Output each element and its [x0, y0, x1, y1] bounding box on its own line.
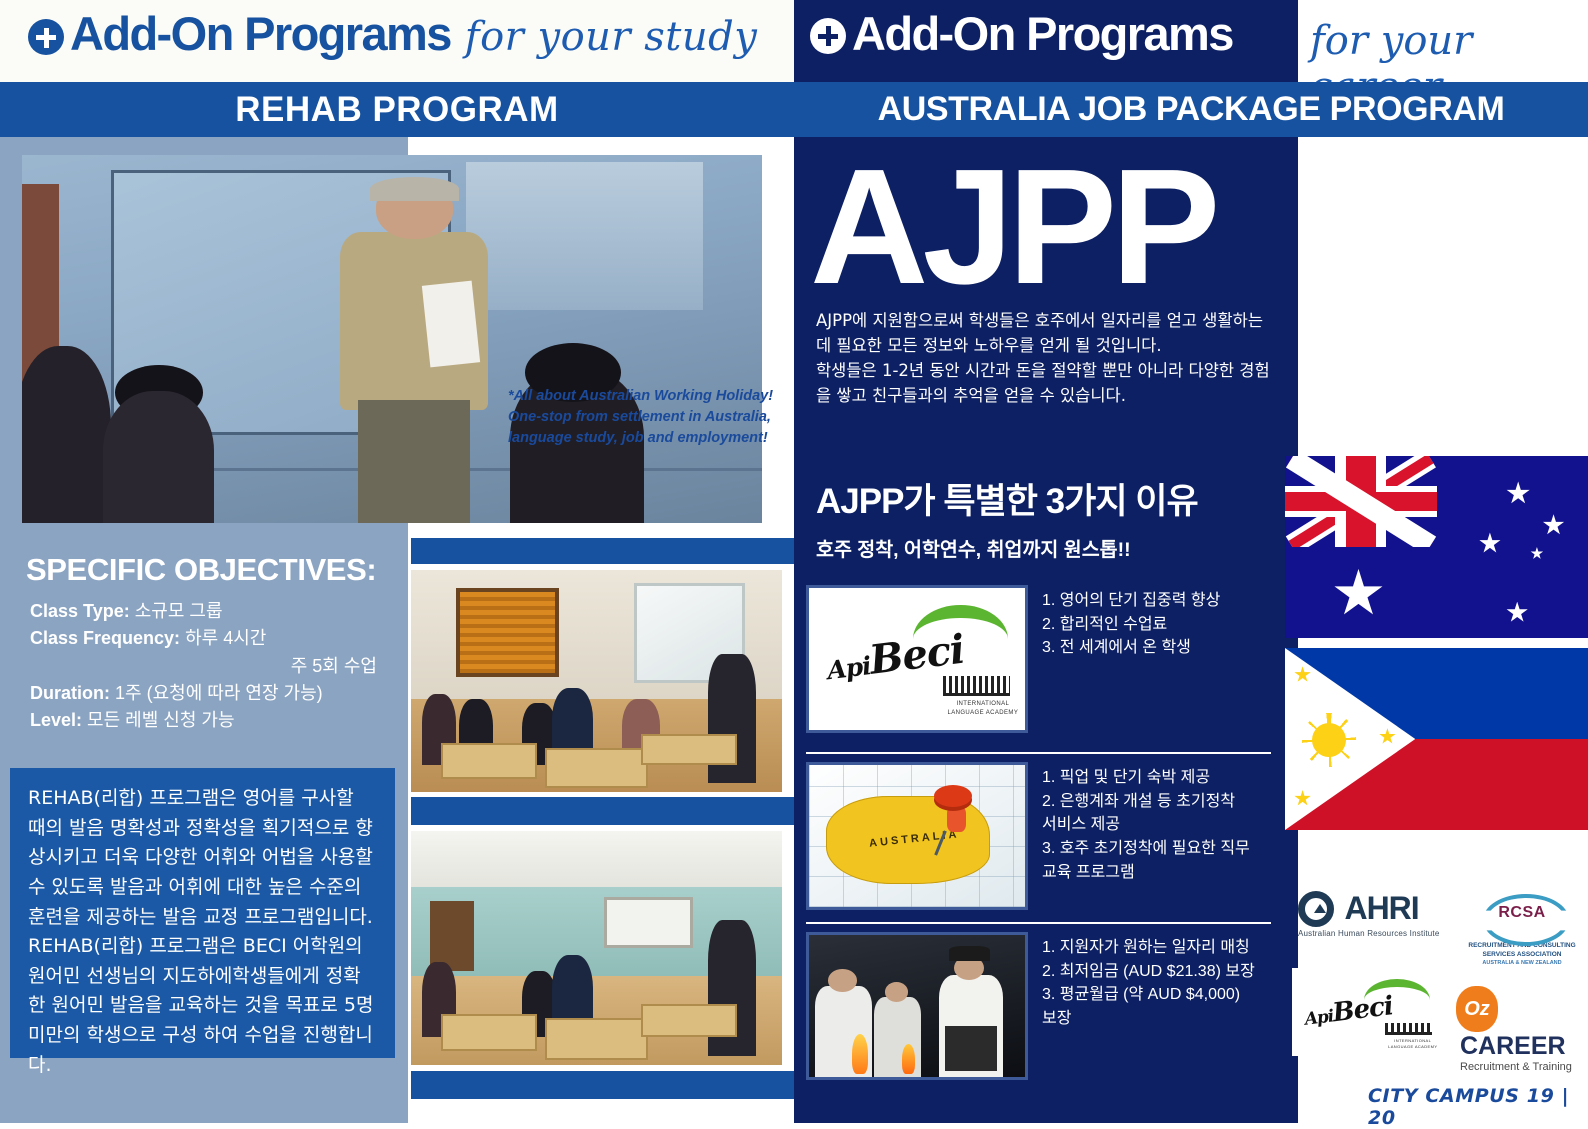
feature-item-3: 1. 지원자가 원하는 일자리 매칭 2. 최저임금 (AUD $21.38) …: [806, 932, 1271, 1080]
api-beci-logo-thumb: ApiBeci INTERNATIONAL LANGUAGE ACADEMY: [806, 585, 1028, 733]
objective-key: Duration:: [30, 683, 110, 703]
map-pin-icon: [934, 785, 972, 807]
objective-value: 하루 4시간: [185, 628, 266, 648]
stove-flame-icon: [902, 1044, 915, 1074]
plus-circle-icon: [28, 19, 64, 55]
map-pin-neck-icon: [947, 806, 966, 832]
rcsa-logo: RCSA RECRUITMENT AND CONSULTING SERVICES…: [1460, 894, 1584, 966]
chef-head: [828, 969, 856, 992]
feature-list-item: 2. 합리적인 수업료: [1042, 613, 1220, 637]
objective-key: Class Frequency:: [30, 628, 180, 648]
brochure-page: Add-On Programs for your study REHAB PRO…: [0, 0, 1588, 1123]
classroom-students-photo: [411, 570, 782, 792]
ahri-title: AHRI: [1344, 890, 1418, 927]
photo-wall-panel: [466, 162, 703, 309]
photo-teacher-paper: [422, 281, 481, 368]
ajpp-program-title: AUSTRALIA JOB PACKAGE PROGRAM: [878, 90, 1505, 129]
union-jack-cross-red: [1346, 456, 1376, 547]
oz-career-text: CAREER Recruitment & Training: [1460, 1032, 1572, 1073]
api-beci-logo: ApiBeci INTERNATIONAL LANGUAGE ACADEMY: [809, 588, 1025, 730]
southern-cross-star-icon: [1506, 481, 1530, 505]
objective-key: Level:: [30, 710, 82, 730]
photo-desk: [545, 1018, 649, 1060]
rcsa-subtitle-2: AUSTRALIA & NEW ZEALAND: [1460, 960, 1584, 966]
photo-divider-bar-3: [411, 1071, 794, 1099]
beci-word-beci: Beci: [867, 625, 967, 683]
objective-row: 주 5회 수업: [30, 653, 405, 680]
feature-list-item: 1. 픽업 및 단기 숙박 제공: [1042, 766, 1250, 790]
kitchen-chefs-thumb: [806, 932, 1028, 1080]
oz-career-subtitle: Recruitment & Training: [1460, 1061, 1572, 1073]
right-addon-main-text: Add-On Programs: [852, 10, 1233, 57]
rcsa-title: RCSA: [1479, 904, 1565, 922]
left-addon-main-text: Add-On Programs: [70, 10, 451, 57]
feature-list-item: 2. 은행계좌 개설 등 초기정착: [1042, 790, 1250, 814]
feature-list-item: 3. 호주 초기정착에 필요한 직무: [1042, 837, 1250, 861]
rehab-description-box: REHAB(리합) 프로그램은 영어를 구사할 때의 발음 명확성과 정확성을 …: [10, 768, 395, 1058]
photo-student-1: [22, 346, 111, 523]
oz-badge-icon: [1456, 986, 1498, 1032]
union-jack-canton: [1285, 456, 1437, 547]
feature-list-item: 3. 평균월급 (약 AUD $4,000): [1042, 983, 1255, 1007]
photo-ceiling: [411, 831, 782, 892]
beci-subtitle: INTERNATIONAL LANGUAGE ACADEMY: [1387, 1038, 1440, 1050]
southern-cross-star-icon: [1506, 602, 1528, 624]
beci-subtitle: INTERNATIONAL LANGUAGE ACADEMY: [945, 700, 1021, 718]
ph-flag-sun-icon: [1312, 723, 1346, 757]
feature-1-list: 1. 영어의 단기 집중력 향상 2. 합리적인 수업료 3. 전 세계에서 온…: [1042, 585, 1220, 733]
photo-desk: [641, 1004, 737, 1037]
chef-hat-icon: [949, 946, 990, 960]
feature-list-item: 1. 영어의 단기 집중력 향상: [1042, 589, 1220, 613]
left-addon-title: Add-On Programs for your study: [28, 10, 757, 60]
specific-objectives-heading: SPECIFIC OBJECTIVES:: [26, 552, 376, 588]
stove-flame-icon: [852, 1034, 868, 1074]
beci-building-icon: [943, 676, 1010, 696]
photo-desk: [441, 743, 537, 779]
photo-divider-bar-1: [411, 538, 794, 564]
feature-separator-2: [806, 922, 1271, 924]
plus-circle-icon: [810, 18, 846, 54]
photo-window-blind: [456, 588, 560, 677]
reasons-subheading: 호주 정착, 어학연수, 취업까지 원스톱!!: [816, 533, 1131, 562]
photo-whiteboard: [604, 897, 693, 948]
photo-door: [430, 901, 475, 971]
objective-value: 모든 레벨 신청 가능: [87, 710, 234, 730]
philippines-flag: [1285, 648, 1588, 830]
specific-objectives-list: Class Type: 소규모 그룹 Class Frequency: 하루 4…: [30, 598, 405, 735]
photo-teacher-pants: [358, 400, 470, 523]
teacher-presenting-photo: [22, 155, 762, 523]
photo-desk: [641, 734, 737, 765]
chef-head: [885, 982, 909, 1002]
feature-list-item: 보장: [1042, 1007, 1255, 1031]
photo-desk: [441, 1014, 537, 1051]
objective-key: Class Type:: [30, 601, 130, 621]
rehab-description-text: REHAB(리합) 프로그램은 영어를 구사할 때의 발음 명확성과 정확성을 …: [28, 784, 377, 1080]
ajpp-description: AJPP에 지원함으로써 학생들은 호주에서 일자리를 얻고 생활하는데 필요한…: [816, 308, 1278, 408]
australia-flag: [1285, 456, 1588, 638]
rehab-program-title: REHAB PROGRAM: [235, 90, 558, 130]
reasons-heading: AJPP가 특별한 3가지 이유: [816, 473, 1198, 524]
objective-value: 1주 (요청에 따라 연장 가능): [115, 683, 323, 703]
feature-3-list: 1. 지원자가 원하는 일자리 매칭 2. 최저임금 (AUD $21.38) …: [1042, 932, 1255, 1080]
objective-row: Duration: 1주 (요청에 따라 연장 가능): [30, 680, 405, 707]
chef-apron: [945, 1026, 997, 1071]
beci-building-icon: [1385, 1023, 1432, 1035]
photo-teacher-hair: [370, 177, 459, 201]
right-addon-title: Add-On Programs: [810, 10, 1233, 57]
oz-career-title: CAREER: [1460, 1032, 1566, 1060]
objective-value: 주 5회 수업: [291, 656, 377, 676]
right-program-band: AUSTRALIA JOB PACKAGE PROGRAM: [794, 82, 1588, 137]
commonwealth-star-icon: [1333, 569, 1383, 619]
southern-cross-star-icon: [1530, 547, 1543, 560]
api-beci-logo: ApiBeci INTERNATIONAL LANGUAGE ACADEMY: [1292, 968, 1442, 1056]
objective-row: Class Frequency: 하루 4시간: [30, 625, 405, 652]
feature-list-item: 교육 프로그램: [1042, 861, 1250, 885]
ahri-logo: AHRI Australian Human Resources Institut…: [1298, 890, 1448, 938]
australia-map-pin-thumb: AUSTRALIA: [806, 762, 1028, 910]
left-addon-script-text: for your study: [465, 14, 758, 60]
feature-list-item: 1. 지원자가 원하는 일자리 매칭: [1042, 936, 1255, 960]
photo-desk: [545, 748, 649, 788]
rcsa-ring-icon: RCSA: [1479, 894, 1565, 940]
classroom-wide-photo: [411, 831, 782, 1065]
left-header: Add-On Programs for your study: [0, 0, 794, 82]
feature-list-item: 3. 전 세계에서 온 학생: [1042, 636, 1220, 660]
southern-cross-star-icon: [1479, 532, 1501, 554]
feature-list-item: 2. 최저임금 (AUD $21.38) 보장: [1042, 960, 1255, 984]
photo-divider-bar-2: [411, 797, 794, 825]
working-holiday-note: *All about Australian Working Holiday! O…: [508, 386, 788, 449]
australia-map-image: AUSTRALIA: [809, 765, 1025, 907]
beci-word-api: Api: [1304, 1007, 1335, 1030]
objective-row: Level: 모든 레벨 신청 가능: [30, 707, 405, 734]
ahri-subtitle: Australian Human Resources Institute: [1298, 929, 1448, 938]
left-program-band: REHAB PROGRAM: [0, 82, 794, 137]
feature-list-item: 서비스 제공: [1042, 813, 1250, 837]
union-jack-cross-red: [1285, 492, 1437, 510]
objective-row: Class Type: 소규모 그룹: [30, 598, 405, 625]
feature-separator-1: [806, 752, 1271, 754]
southern-cross-star-icon: [1543, 514, 1565, 536]
feature-2-list: 1. 픽업 및 단기 숙박 제공 2. 은행계좌 개설 등 초기정착 서비스 제…: [1042, 762, 1250, 910]
ajpp-hero-acronym: AJPP: [810, 152, 1214, 303]
kitchen-image: [809, 935, 1025, 1077]
feature-item-1: ApiBeci INTERNATIONAL LANGUAGE ACADEMY 1…: [806, 585, 1271, 733]
ahri-recycle-arrows-icon: [1298, 891, 1334, 927]
photo-teacher-figure: [340, 181, 488, 523]
oz-career-logo: CAREER Recruitment & Training: [1456, 986, 1588, 1073]
left-panel-rehab: Add-On Programs for your study REHAB PRO…: [0, 0, 794, 1123]
api-beci-logo-mark: ApiBeci INTERNATIONAL LANGUAGE ACADEMY: [1292, 968, 1442, 1056]
objective-value: 소규모 그룹: [135, 601, 223, 621]
footer-page-label: CITY CAMPUS 19 | 20: [1368, 1085, 1588, 1129]
feature-item-2: AUSTRALIA 1. 픽업 및 단기 숙박 제공 2. 은행계좌 개설 등 …: [806, 762, 1271, 910]
partner-logos: AHRI Australian Human Resources Institut…: [1292, 890, 1588, 1075]
beci-word-api: Api: [826, 651, 873, 685]
photo-student-2: [103, 391, 214, 523]
